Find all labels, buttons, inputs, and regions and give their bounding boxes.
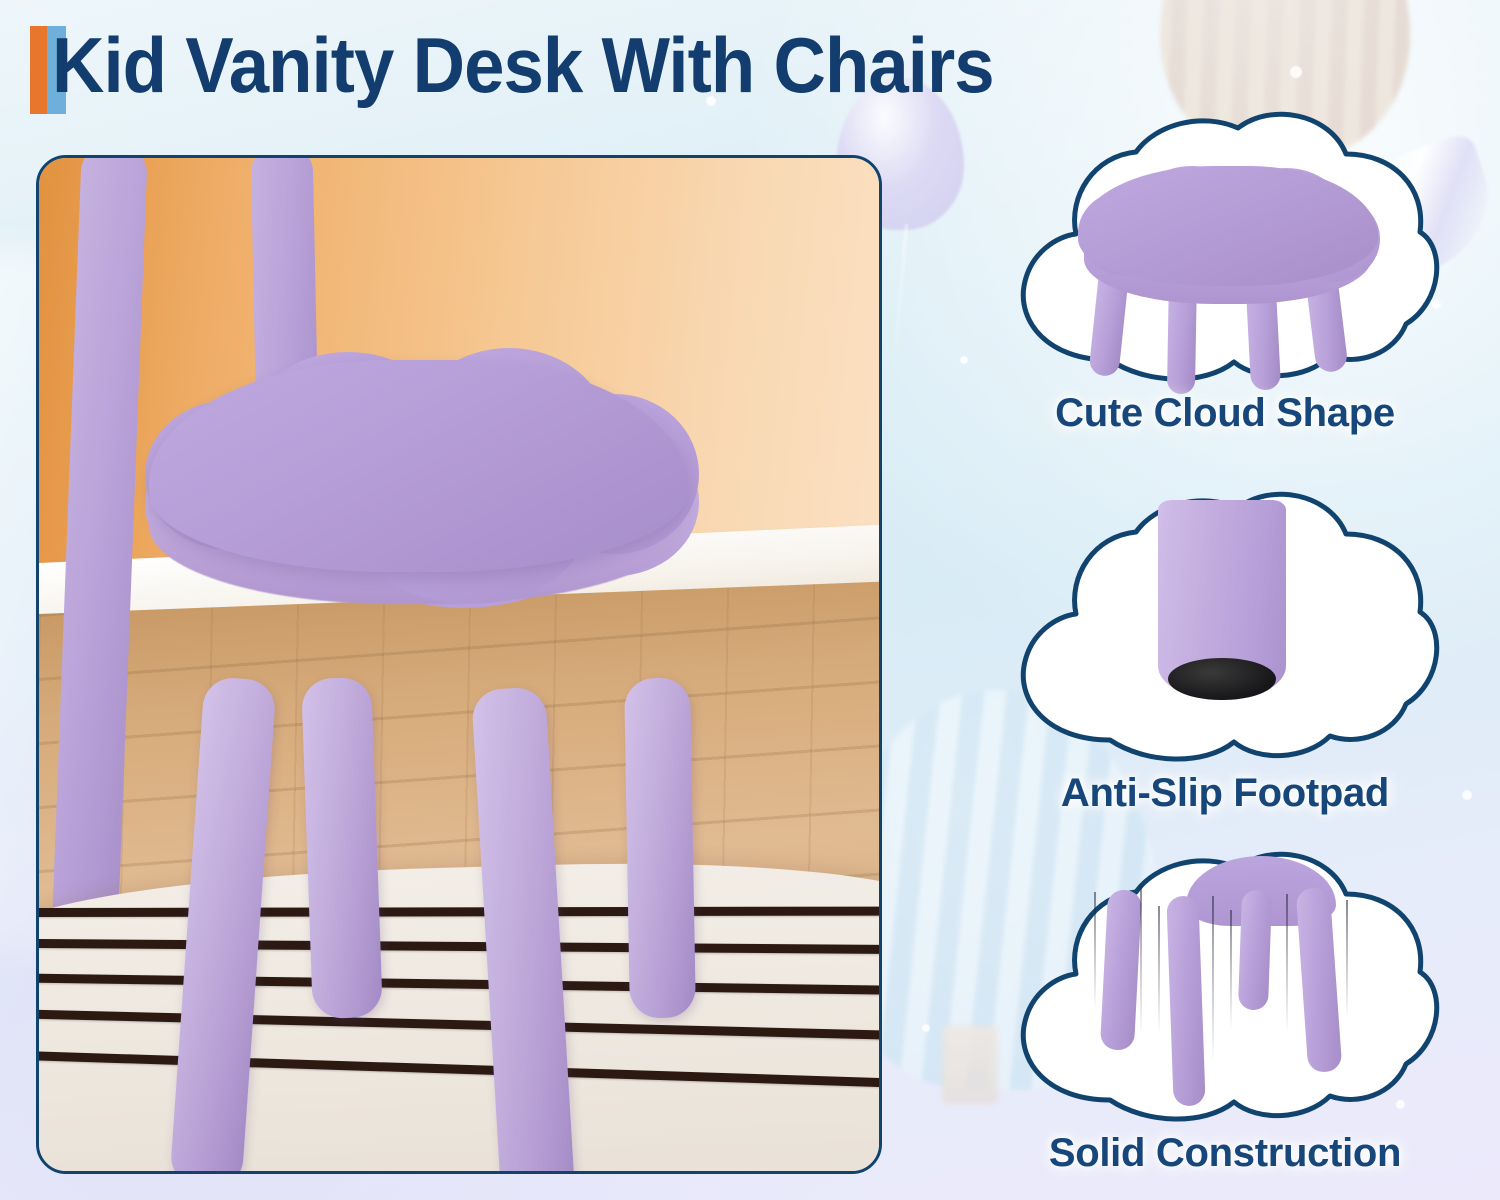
feature-caption: Solid Construction [990,1131,1460,1176]
accent-bar-orange [30,26,47,114]
striped-rug [36,854,882,1174]
sparkle-icon [922,1024,930,1032]
anti-slip-pad [1168,658,1276,700]
rug-stripe [36,972,882,996]
infographic-page: Kid Vanity Desk With Chairs [0,0,1500,1200]
rug-stripe [36,1008,882,1044]
cloud-stool-seat [139,348,699,618]
feature-cute-cloud-shape: Cute Cloud Shape [990,110,1460,436]
feature-anti-slip-footpad: Anti-Slip Footpad [990,490,1460,816]
sparkle-icon [960,356,968,364]
stool-legs-illustration [990,850,1460,1135]
motion-line [1230,910,1232,1030]
cloud-badge [990,850,1460,1135]
rug-stripe [36,938,882,955]
seat-top [149,360,689,572]
stool-leg [1296,887,1343,1073]
footpad-illustration [990,490,1460,775]
mini-seat-top [1078,166,1378,286]
cloud-badge [990,110,1460,395]
rug-stripe [36,1049,882,1093]
stool-leg [1100,889,1142,1051]
cloud-stool-illustration [990,110,1460,395]
sparkle-icon [1462,790,1472,800]
feature-solid-construction: Solid Construction [990,850,1460,1176]
motion-line [1094,892,1096,1010]
cloud-badge [990,490,1460,775]
motion-line [1286,894,1288,1034]
motion-line [1346,900,1348,1020]
motion-line [1158,906,1160,1034]
product-scene [39,158,879,1171]
stool-leg [1238,890,1272,1011]
stool-leg [1166,896,1205,1107]
motion-line [1212,896,1214,1064]
mini-cloud-seat [1078,166,1378,316]
feature-caption: Anti-Slip Footpad [990,771,1460,816]
motion-line [1140,886,1142,1036]
rug-stripe [36,907,882,918]
stool-leg [624,677,696,1018]
feature-caption: Cute Cloud Shape [990,391,1460,436]
main-product-photo [36,155,882,1174]
stool-leg [301,677,383,1019]
page-title: Kid Vanity Desk With Chairs [52,20,994,111]
